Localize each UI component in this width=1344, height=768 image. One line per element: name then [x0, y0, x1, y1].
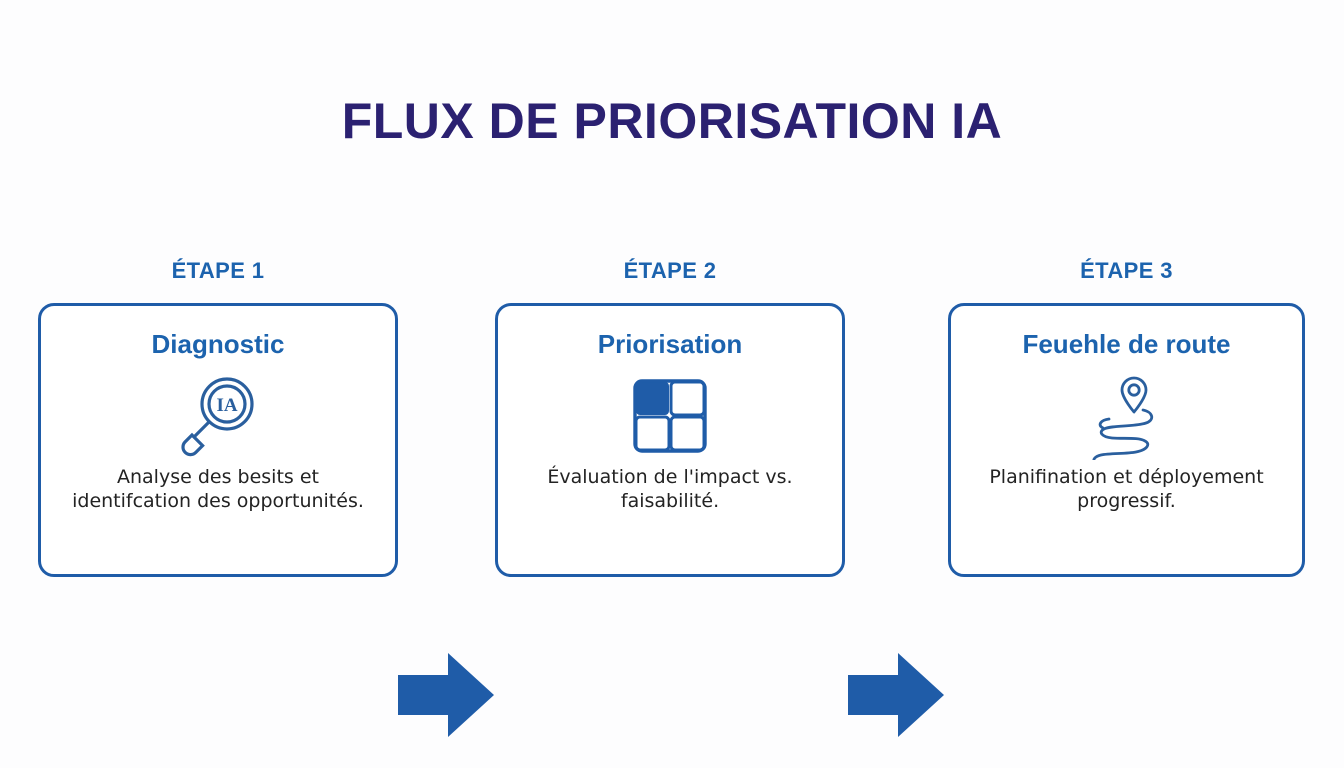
- step-1: ÉTAPE 1 Diagnostic IA Analyse des be: [38, 258, 398, 578]
- winding-road-pin-icon: [1081, 373, 1173, 459]
- step-1-label: ÉTAPE 1: [38, 258, 398, 284]
- step-3-title: Feuehle de route: [1022, 330, 1230, 359]
- step-2-label: ÉTAPE 2: [495, 258, 845, 284]
- step-2-card[interactable]: Priorisation Évaluation de l'impact vs. …: [495, 303, 845, 577]
- priority-matrix-icon: [632, 373, 708, 459]
- step-1-card[interactable]: Diagnostic IA Analyse des besits et iden…: [38, 303, 398, 577]
- steps-row: ÉTAPE 1 Diagnostic IA Analyse des be: [0, 258, 1344, 588]
- step-1-title: Diagnostic: [152, 330, 285, 359]
- diagram-canvas: FLUX DE PRIORISATION IA ÉTAPE 1 Diagnost…: [0, 0, 1344, 768]
- magnifier-ia-label: IA: [216, 395, 237, 416]
- arrow-step2-to-step3: [848, 651, 944, 739]
- step-2: ÉTAPE 2 Priorisation Évaluation de l'imp…: [495, 258, 845, 578]
- step-3-label: ÉTAPE 3: [948, 258, 1305, 284]
- arrow-step1-to-step2: [398, 651, 494, 739]
- step-2-description: Évaluation de l'impact vs. faisabilité.: [498, 465, 842, 514]
- step-1-description: Analyse des besits et identifcation des …: [41, 465, 395, 514]
- page-title: FLUX DE PRIORISATION IA: [0, 92, 1344, 150]
- magnifier-ia-icon: IA: [172, 373, 264, 459]
- step-2-title: Priorisation: [598, 330, 742, 359]
- step-3-card[interactable]: Feuehle de route Planifination et déploy…: [948, 303, 1305, 577]
- step-3-description: Planifination et déployement progressif.: [951, 465, 1302, 514]
- step-3: ÉTAPE 3 Feuehle de route Planifination e…: [948, 258, 1305, 578]
